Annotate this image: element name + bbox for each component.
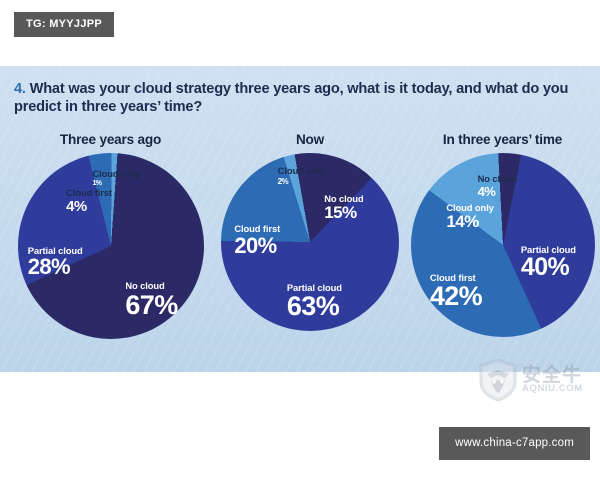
pie-canvas: No cloud4%Partial cloud40%Cloud first42%… (411, 153, 595, 337)
slice-percent-value: 15% (324, 204, 363, 221)
chart-title: Now (212, 132, 408, 147)
slice-category-name: Cloud first (66, 188, 112, 197)
slice-percent-value: 1% (92, 180, 139, 187)
pie-slice-label-cloud-first: Cloud first20% (234, 224, 280, 256)
slice-percent-value: 67% (125, 292, 177, 319)
pie-slice-label-cloud-only: Cloud only1% (92, 169, 139, 187)
pie-canvas: No cloud15%Partial cloud63%Cloud first20… (221, 153, 399, 331)
pie-slice-label-cloud-only: Cloud only2% (278, 166, 325, 185)
aqniu-domain-text: AQNIU.COM (522, 383, 583, 394)
slice-percent-value: 28% (28, 256, 83, 278)
slice-percent-value: 14% (446, 213, 493, 230)
question-text: What was your cloud strategy three years… (14, 81, 568, 115)
slice-percent-value: 20% (234, 235, 280, 257)
aqniu-watermark: 安全牛 AQNIU.COM (478, 356, 590, 404)
slice-category-name: Cloud only (278, 166, 325, 175)
slice-percent-value: 2% (278, 178, 325, 186)
pie-chart-in-three-years-time: In three years’ time No cloud4%Partial c… (405, 132, 600, 337)
slice-percent-value: 42% (430, 283, 482, 310)
slice-percent-value: 40% (521, 255, 576, 280)
shield-bull-icon (478, 358, 518, 402)
slice-category-name: Cloud only (92, 169, 139, 178)
chart-title: Three years ago (8, 132, 213, 147)
pie-slice-label-no-cloud: No cloud67% (125, 281, 177, 318)
question-heading: 4. What was your cloud strategy three ye… (14, 80, 589, 116)
slice-percent-value: 4% (66, 199, 112, 214)
pie-slice-label-no-cloud: No cloud15% (324, 194, 363, 221)
slice-percent-value: 4% (478, 185, 517, 198)
pie-canvas: No cloud67%Partial cloud28%Cloud first4%… (18, 153, 204, 339)
pie-slice-label-partial-cloud: Partial cloud63% (287, 283, 342, 320)
slice-category-name: Cloud only (446, 203, 493, 212)
chart-title: In three years’ time (405, 132, 600, 147)
pie-chart-three-years-ago: Three years ago No cloud67%Partial cloud… (8, 132, 213, 339)
pie-chart-now: Now No cloud15%Partial cloud63%Cloud fir… (212, 132, 408, 331)
pie-slice-label-partial-cloud: Partial cloud28% (28, 246, 83, 278)
question-number: 4. (14, 81, 26, 97)
pie-slice-label-cloud-first: Cloud first42% (430, 273, 482, 310)
slice-category-name: No cloud (478, 174, 517, 183)
site-url-watermark: www.china-c7app.com (439, 427, 590, 460)
tg-watermark-badge: TG: MYYJJPP (14, 12, 114, 37)
pie-slice-label-cloud-first: Cloud first4% (66, 188, 112, 213)
survey-question-panel: 4. What was your cloud strategy three ye… (0, 66, 600, 372)
slice-percent-value: 63% (287, 293, 342, 320)
pie-slice-label-partial-cloud: Partial cloud40% (521, 245, 576, 280)
pie-slice-label-cloud-only: Cloud only14% (446, 203, 493, 230)
pie-slice-label-no-cloud: No cloud4% (478, 174, 517, 197)
slice-category-name: No cloud (324, 194, 363, 203)
